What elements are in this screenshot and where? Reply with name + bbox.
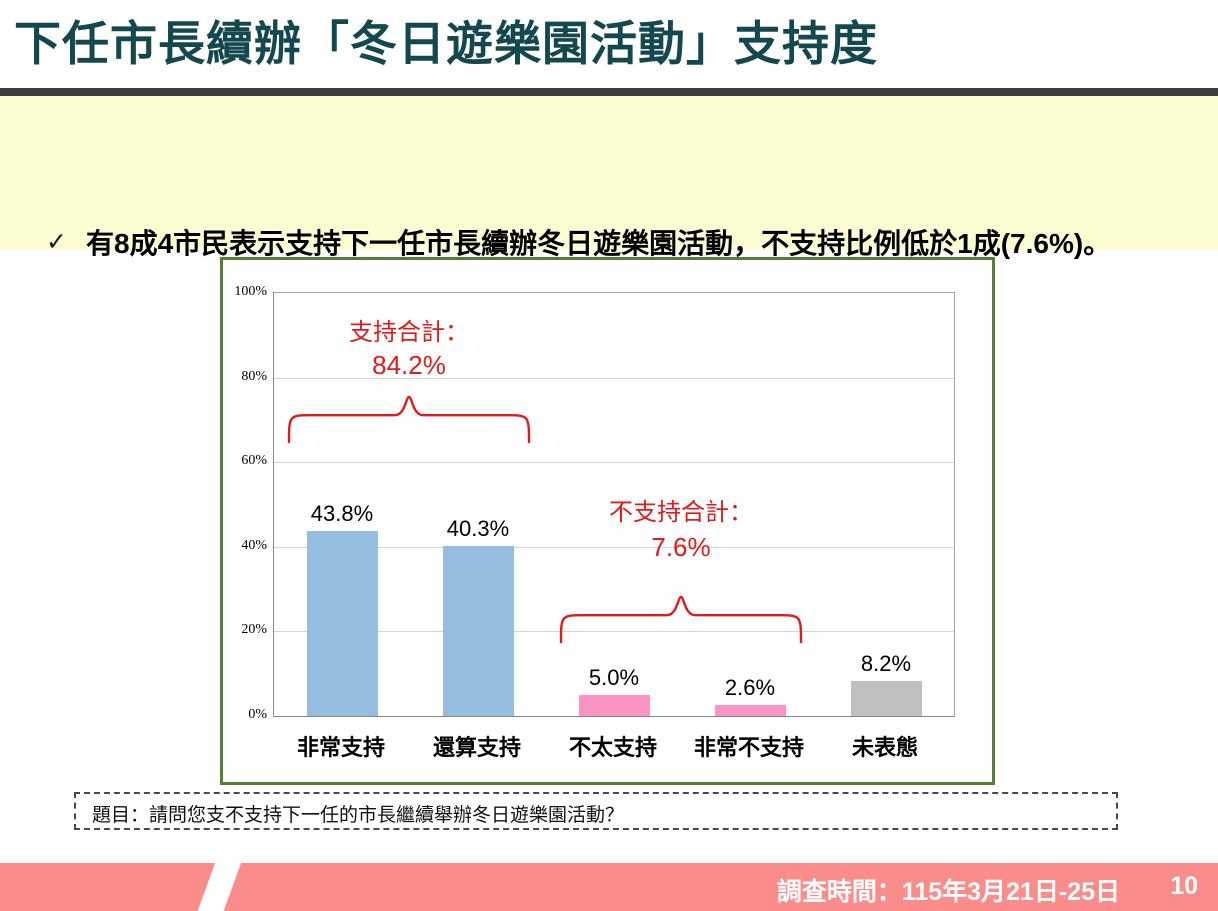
- annotation-label: 支持合計：: [287, 312, 531, 347]
- question-footnote-box: 題目：請問您支不支持下一任的市長繼續舉辦冬日遊樂園活動？: [74, 792, 1118, 830]
- bar: [443, 546, 514, 716]
- title-divider: [0, 88, 1218, 96]
- page-title: 下任市長續辦「冬日遊樂園活動」支持度: [14, 12, 1204, 80]
- page-number: 10: [1170, 872, 1198, 901]
- y-axis-tick-label: 80%: [241, 369, 267, 385]
- bar: [579, 695, 650, 716]
- chart-container: 0%20%40%60%80%100% 43.8%40.3%5.0%2.6%8.2…: [220, 257, 995, 785]
- survey-period-label: 調查時間：115年3月21日-25日: [777, 872, 1120, 908]
- y-axis: 0%20%40%60%80%100%: [223, 292, 267, 717]
- y-axis-tick-label: 100%: [234, 284, 267, 300]
- y-axis-tick-label: 40%: [241, 538, 267, 554]
- footer-slash-decoration: [193, 863, 244, 911]
- annotation-value: 84.2%: [287, 350, 531, 381]
- y-axis-tick-label: 60%: [241, 453, 267, 469]
- question-footnote-text: 題目：請問您支不支持下一任的市長繼續舉辦冬日遊樂園活動？: [92, 800, 624, 827]
- bar: [851, 681, 922, 716]
- callout-band: ✓ 有8成4市民表示支持下一任市長續辦冬日遊樂園活動，不支持比例低於1成(7.6…: [0, 96, 1218, 250]
- check-icon: ✓: [46, 227, 67, 256]
- x-axis-category-label: 未表態: [805, 730, 965, 762]
- bar-value-label: 5.0%: [554, 665, 674, 691]
- brace-annotation: [559, 595, 803, 643]
- bar-value-label: 2.6%: [690, 675, 810, 701]
- bar-value-label: 8.2%: [826, 651, 946, 677]
- bar-value-label: 40.3%: [418, 516, 538, 542]
- bar-value-label: 43.8%: [282, 501, 402, 527]
- bar: [715, 705, 786, 716]
- annotation-label: 不支持合計：: [559, 492, 803, 527]
- y-axis-tick-label: 20%: [241, 622, 267, 638]
- brace-annotation: [287, 395, 531, 443]
- y-axis-tick-label: 0%: [248, 707, 267, 723]
- footer-bar: 調查時間：115年3月21日-25日 10: [0, 863, 1218, 911]
- bar: [307, 531, 378, 716]
- annotation-value: 7.6%: [559, 532, 803, 563]
- gridline: [274, 462, 954, 463]
